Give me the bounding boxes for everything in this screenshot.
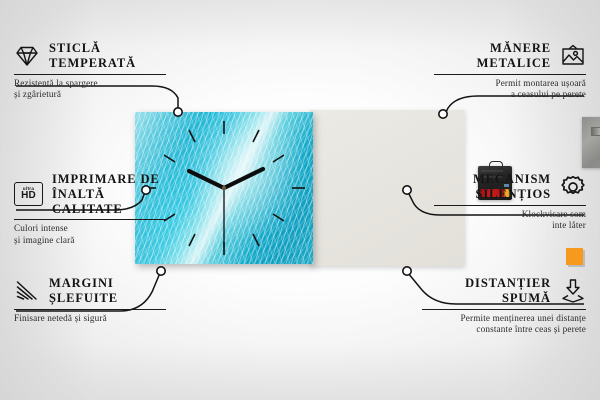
down-arrow-stack-icon: [560, 278, 586, 304]
endpoint-dot-polished-edges: [157, 267, 165, 275]
clock-center-cap: [222, 186, 226, 190]
diamond-icon: [14, 43, 40, 69]
callout-foam-spacer: DISTANȚIER SPUMĂ Permite menținerea unei…: [422, 276, 586, 336]
picture-frame-hanger-icon: [560, 43, 586, 69]
callout-description: Permit montarea ușoară a ceasului pe per…: [434, 78, 586, 102]
callout-divider: [434, 74, 586, 75]
callout-description: Finisare netedă și sigură: [14, 313, 166, 325]
callout-title: STICLĂ TEMPERATĂ: [49, 41, 136, 71]
callout-description: Culori intense și imagine clară: [14, 223, 166, 247]
endpoint-dot-foam-spacer: [403, 267, 411, 275]
callout-header: MECANISM SILENȚIOS: [434, 172, 586, 202]
ultra-hd-icon: ultra HD: [14, 182, 43, 206]
ultra-hd-icon-main-label: HD: [21, 191, 36, 201]
callout-divider: [422, 309, 586, 310]
callout-title: MARGINI ȘLEFUITE: [49, 276, 118, 306]
polished-edge-icon: [14, 278, 40, 304]
minute-hand: [224, 169, 263, 188]
callout-header: MARGINI ȘLEFUITE: [14, 276, 166, 306]
callout-hd-print: ultra HD IMPRIMARE DE ÎNALTĂ CALITATE Cu…: [14, 172, 166, 247]
callout-title: MECANISM SILENȚIOS: [473, 172, 551, 202]
callout-metal-handles: MĂNERE METALICE Permit montarea ușoară a…: [434, 41, 586, 101]
foam-spacer-pad: [566, 248, 583, 265]
callout-title: DISTANȚIER SPUMĂ: [465, 276, 551, 306]
callout-polished-edges: MARGINI ȘLEFUITE Finisare netedă și sigu…: [14, 276, 166, 324]
callout-title: IMPRIMARE DE ÎNALTĂ CALITATE: [52, 172, 166, 216]
hour-hand: [189, 171, 224, 188]
infographic-canvas: STICLĂ TEMPERATĂ Rezistentă la spargere …: [0, 0, 600, 400]
callout-header: MĂNERE METALICE: [434, 41, 586, 71]
callout-header: STICLĂ TEMPERATĂ: [14, 41, 166, 71]
callout-header: ultra HD IMPRIMARE DE ÎNALTĂ CALITATE: [14, 172, 166, 216]
callout-description: Klockvisare som inte låter: [434, 209, 586, 233]
callout-header: DISTANȚIER SPUMĂ: [422, 276, 586, 306]
callout-tempered-glass: STICLĂ TEMPERATĂ Rezistentă la spargere …: [14, 41, 166, 101]
callout-divider: [434, 205, 586, 206]
mechanism-hook: [489, 161, 503, 169]
callout-divider: [14, 309, 166, 310]
callout-title: MĂNERE METALICE: [477, 41, 551, 71]
callout-description: Rezistentă la spargere și zgârietură: [14, 78, 166, 102]
metal-hanger-plate: [582, 117, 600, 168]
callout-divider: [14, 74, 166, 75]
callout-divider: [14, 219, 166, 220]
gear-icon: [560, 174, 586, 200]
hanger-keyhole-slot: [591, 127, 600, 136]
callout-silent-mechanism: MECANISM SILENȚIOS Klockvisare som inte …: [434, 172, 586, 232]
callout-description: Permite menținerea unei distanțe constan…: [422, 313, 586, 337]
product-image: [135, 110, 465, 268]
